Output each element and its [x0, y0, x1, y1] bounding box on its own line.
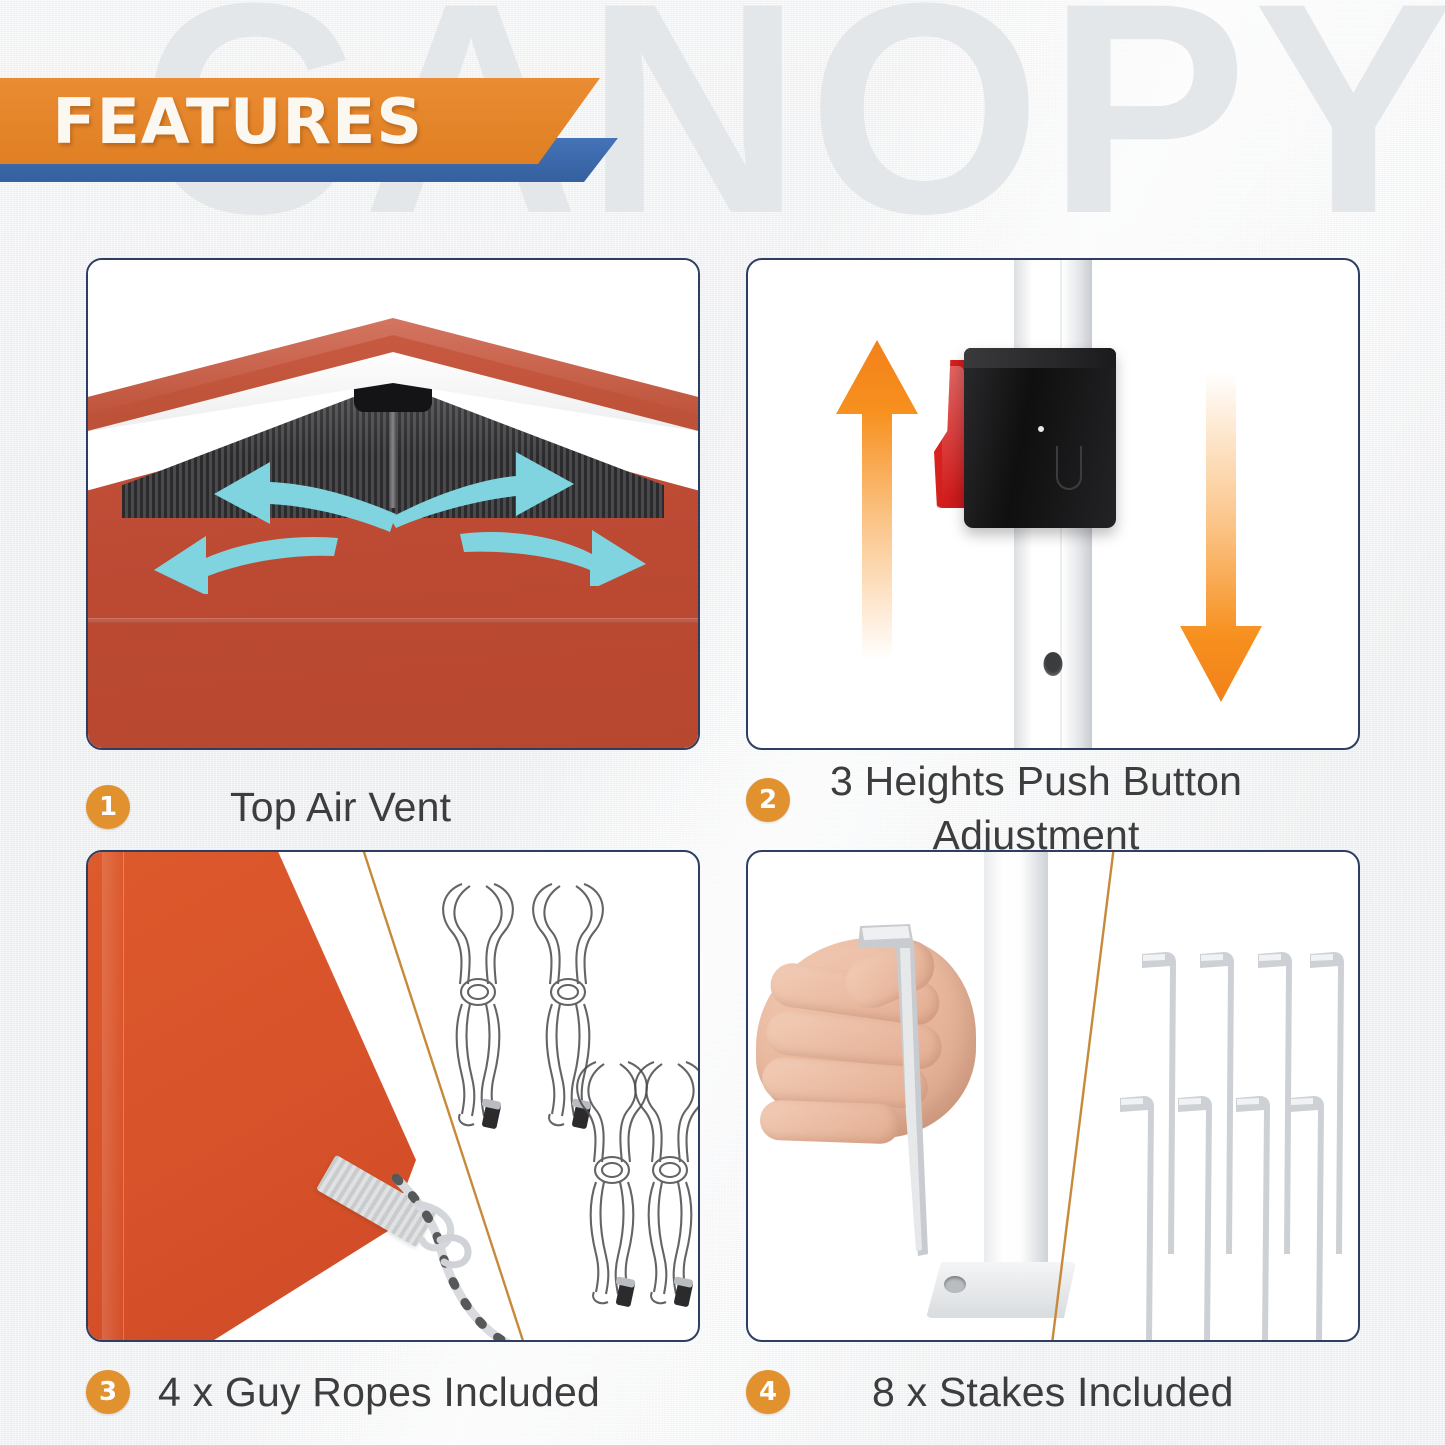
caption-3-text: 4 x Guy Ropes Included: [158, 1365, 600, 1419]
housing-pinhole: [1038, 426, 1044, 432]
housing-slot: [1056, 446, 1082, 490]
features-grid: 1 Top Air Vent 2 3 Heights Push Button A…: [86, 258, 1360, 1428]
features-banner: FEATURES: [0, 78, 660, 198]
coiled-guy-rope-4: [624, 1048, 700, 1308]
banner-orange-bar: FEATURES: [0, 78, 600, 164]
feature-panel-2-push-button[interactable]: [746, 258, 1360, 750]
button-housing: [964, 348, 1116, 528]
caption-2-line1: 3 Heights Push Button: [830, 754, 1242, 808]
banner-title: FEATURES: [52, 85, 423, 158]
badge-number-2: 2: [746, 778, 790, 822]
feature-panel-4-stakes[interactable]: [746, 850, 1360, 1342]
badge-number-4: 4: [746, 1370, 790, 1414]
caption-1-text: Top Air Vent: [230, 780, 451, 834]
caption-1: 1 Top Air Vent: [86, 750, 700, 850]
stake-front-1: [1118, 1092, 1160, 1342]
caption-3: 3 4 x Guy Ropes Included: [86, 1342, 700, 1428]
caption-2: 2 3 Heights Push Button Adjustment: [746, 750, 1360, 850]
stake-front-4: [1288, 1092, 1330, 1342]
badge-number-1: 1: [86, 785, 130, 829]
stake-front-2: [1176, 1092, 1218, 1342]
arrow-up-icon: [834, 340, 920, 660]
coiled-guy-rope-1: [432, 870, 524, 1130]
stake-front-3: [1234, 1092, 1276, 1342]
airflow-arrow-left-lower-icon: [150, 504, 340, 594]
canopy-vent-illustration: [88, 260, 698, 748]
pole-adjustment-hole: [1044, 652, 1063, 676]
feature-panel-1-top-air-vent[interactable]: [86, 258, 700, 750]
caption-2-text: 3 Heights Push Button Adjustment: [830, 754, 1242, 862]
airflow-arrow-right-lower-icon: [458, 496, 648, 586]
feature-panel-3-guy-ropes[interactable]: [86, 850, 700, 1342]
canopy-seam-line: [86, 618, 700, 623]
caption-4-text: 8 x Stakes Included: [872, 1365, 1234, 1419]
caption-4: 4 8 x Stakes Included: [746, 1342, 1360, 1428]
badge-number-3: 3: [86, 1370, 130, 1414]
arrow-down-icon: [1178, 372, 1264, 702]
